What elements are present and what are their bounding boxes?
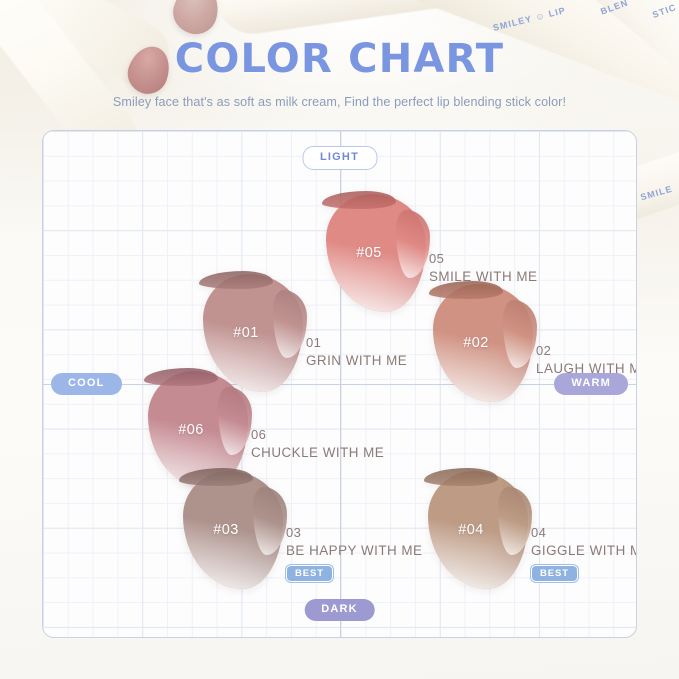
swatch-number: 01 bbox=[306, 334, 407, 352]
swatch-labels: 04GIGGLE WITH MEBEST bbox=[531, 524, 637, 582]
swatch-number: 06 bbox=[251, 426, 384, 444]
swatch-number: 05 bbox=[429, 250, 537, 268]
color-swatch[interactable]: #02 bbox=[433, 284, 533, 402]
color-chart-card: LIGHT COOL WARM DARK #0505SMILE WITH ME#… bbox=[42, 130, 637, 638]
swatch-code-label: #04 bbox=[428, 522, 514, 538]
swatch-number: 04 bbox=[531, 524, 637, 542]
color-swatch[interactable]: #04 bbox=[428, 471, 528, 589]
swatch-number: 03 bbox=[286, 524, 422, 542]
swatch-smear-tail bbox=[253, 487, 287, 555]
swatch-code-label: #05 bbox=[326, 245, 412, 261]
swatch-code-label: #01 bbox=[203, 325, 289, 341]
swatch-group[interactable]: #0505SMILE WITH ME bbox=[326, 194, 426, 312]
swatch-code-label: #06 bbox=[148, 422, 234, 438]
swatch-code-label: #03 bbox=[183, 522, 269, 538]
page-subtitle: Smiley face that's as soft as milk cream… bbox=[0, 95, 679, 109]
swatch-smear-tail bbox=[503, 300, 537, 368]
swatch-smear-tail bbox=[498, 487, 532, 555]
swatch-name: GIGGLE WITH ME bbox=[531, 542, 637, 561]
swatch-name: CHUCKLE WITH ME bbox=[251, 444, 384, 463]
swatch-smear-tail bbox=[218, 387, 252, 455]
swatch-name: LAUGH WITH ME bbox=[536, 360, 637, 379]
best-badge: BEST bbox=[531, 565, 578, 582]
swatch-smear-edge bbox=[199, 271, 273, 289]
axis-label-cool: COOL bbox=[51, 373, 122, 395]
swatch-name: GRIN WITH ME bbox=[306, 352, 407, 371]
swatch-labels: 06CHUCKLE WITH ME bbox=[251, 426, 384, 462]
swatch-smear-tail bbox=[396, 210, 430, 278]
swatch-smear-tail bbox=[273, 290, 307, 358]
swatch-group[interactable]: #0303BE HAPPY WITH MEBEST bbox=[183, 471, 283, 589]
axis-label-dark: DARK bbox=[304, 599, 375, 621]
header: COLOR CHART Smiley face that's as soft a… bbox=[0, 36, 679, 109]
chart-axis-horizontal bbox=[43, 384, 636, 385]
swatch-code-label: #02 bbox=[433, 335, 519, 351]
swatch-labels: 01GRIN WITH ME bbox=[306, 334, 407, 370]
swatch-number: 02 bbox=[536, 342, 637, 360]
page-title: COLOR CHART bbox=[0, 36, 679, 82]
best-badge: BEST bbox=[286, 565, 333, 582]
swatch-smear-edge bbox=[322, 191, 396, 209]
swatch-smear-edge bbox=[144, 368, 218, 386]
swatch-name: BE HAPPY WITH ME bbox=[286, 542, 422, 561]
color-swatch[interactable]: #05 bbox=[326, 194, 426, 312]
swatch-smear-edge bbox=[429, 281, 503, 299]
swatch-smear-edge bbox=[179, 468, 253, 486]
color-swatch[interactable]: #03 bbox=[183, 471, 283, 589]
swatch-smear-edge bbox=[424, 468, 498, 486]
axis-label-light: LIGHT bbox=[302, 146, 377, 170]
swatch-group[interactable]: #0202LAUGH WITH ME bbox=[433, 284, 533, 402]
swatch-labels: 02LAUGH WITH ME bbox=[536, 342, 637, 378]
swatch-group[interactable]: #0404GIGGLE WITH MEBEST bbox=[428, 471, 528, 589]
swatch-labels: 03BE HAPPY WITH MEBEST bbox=[286, 524, 422, 582]
